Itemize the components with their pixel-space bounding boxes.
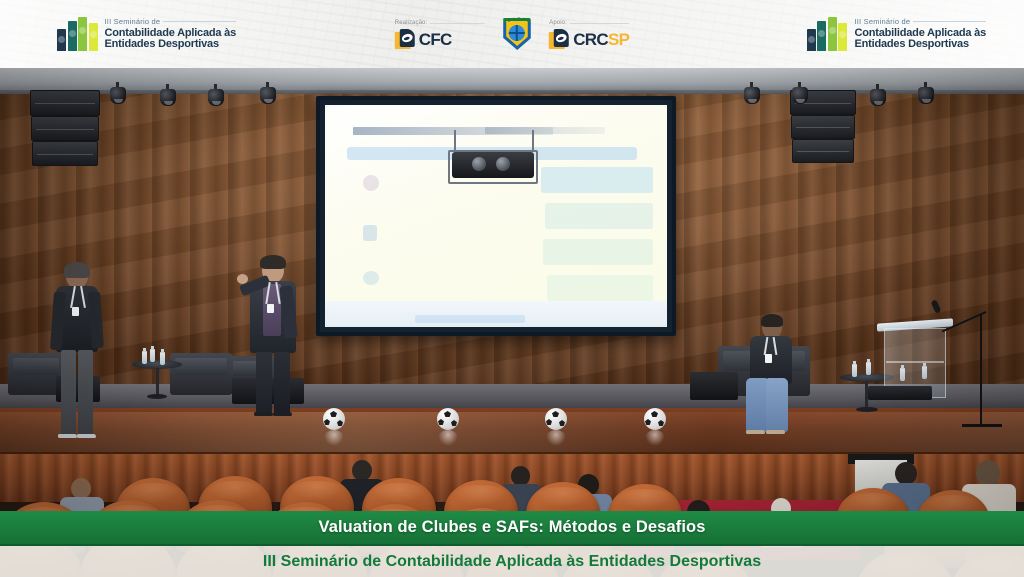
crc-wordmark: CRC xyxy=(573,30,608,49)
event-logo-right-line2: Entidades Desportivas xyxy=(854,39,986,50)
stage-monitor-3 xyxy=(690,372,738,400)
speaker-badge-left xyxy=(72,307,79,316)
slide-callout-4 xyxy=(547,275,653,301)
soccer-ball-3 xyxy=(545,408,567,430)
event-title: III Seminário de Contabilidade Aplicada … xyxy=(263,553,761,571)
speaker-standing-center xyxy=(246,258,308,430)
stage-light-4 xyxy=(258,82,278,106)
event-logo-right: III Seminário de Contabilidade Aplicada … xyxy=(807,17,1024,51)
stage-light-8 xyxy=(916,82,936,106)
gesturing-hand xyxy=(237,274,248,284)
panelist-badge xyxy=(765,354,772,363)
projector-rod-right xyxy=(532,130,534,152)
stage-floor-reflection xyxy=(0,412,1024,452)
side-table-left xyxy=(132,360,182,400)
slide-callout-3 xyxy=(543,239,653,265)
event-logo-mark-icon xyxy=(57,17,98,51)
stage-monitor-4 xyxy=(868,386,932,400)
cbf-shield-icon xyxy=(503,18,531,50)
line-array-speaker-right-2 xyxy=(791,115,855,139)
podium-bottle-2 xyxy=(922,366,927,379)
session-title-bar: Valuation de Clubes e SAFs: Métodos e De… xyxy=(0,511,1024,544)
slide-callout-1 xyxy=(541,167,653,193)
realizacao-label: Realização: xyxy=(395,20,427,26)
water-bottle-2 xyxy=(150,349,155,362)
water-bottle-5 xyxy=(866,362,871,375)
panelist-seated-right xyxy=(748,316,812,434)
soccer-ball-2 xyxy=(437,408,459,430)
speaker-badge-center xyxy=(267,304,274,313)
water-bottle-3 xyxy=(160,352,165,365)
projector-rod-left xyxy=(454,130,456,152)
stage-light-1 xyxy=(108,82,128,106)
stage-light-6 xyxy=(790,82,810,106)
realizacao-block: Realização: CFC xyxy=(395,20,485,50)
water-bottle-4 xyxy=(852,364,857,377)
crcsp-logo: CRCSP xyxy=(549,29,629,50)
stage-light-2 xyxy=(158,84,178,108)
line-array-speaker-left-2 xyxy=(31,116,99,141)
microphone-stand-base xyxy=(962,424,1002,427)
event-header-bar: III Seminário de Contabilidade Aplicada … xyxy=(0,0,1024,68)
stage-light-3 xyxy=(206,84,226,108)
slide-bullet-icon-2 xyxy=(363,225,377,241)
soccer-ball-1 xyxy=(323,408,345,430)
event-logo-left-text: III Seminário de Contabilidade Aplicada … xyxy=(105,18,237,50)
slide-surface xyxy=(325,105,667,327)
event-title-bar: III Seminário de Contabilidade Aplicada … xyxy=(0,544,1024,577)
crc-mark-icon xyxy=(549,29,569,50)
speaker-standing-left xyxy=(52,264,112,454)
soccer-ball-4-reflection xyxy=(645,430,665,446)
cfc-logo: CFC xyxy=(395,29,485,50)
event-logo-left-line1: Contabilidade Aplicada às xyxy=(105,28,237,39)
line-array-speaker-left-3 xyxy=(32,141,98,166)
soccer-ball-3-reflection xyxy=(546,430,566,446)
slide-footer-bar xyxy=(415,315,525,323)
line-array-speaker-right-3 xyxy=(792,139,854,163)
event-logo-left: III Seminário de Contabilidade Aplicada … xyxy=(0,17,236,51)
sponsor-strip: Realização: CFC Apoio: xyxy=(395,18,629,50)
event-logo-right-text: III Seminário de Contabilidade Aplicada … xyxy=(854,18,986,50)
soccer-ball-2-reflection xyxy=(438,430,458,446)
crc-sp-suffix: SP xyxy=(608,30,629,49)
event-logo-left-line2: Entidades Desportivas xyxy=(105,39,237,50)
slide-bullet-icon-3 xyxy=(363,271,379,285)
slide-callout-2 xyxy=(545,203,653,229)
projection-screen xyxy=(316,96,676,336)
event-logo-right-line1: Contabilidade Aplicada às xyxy=(854,28,986,39)
microphone-stand xyxy=(980,314,982,426)
water-bottle-1 xyxy=(142,351,147,364)
livestream-video: Valuation de Clubes e SAFs: Métodos e De… xyxy=(0,68,1024,577)
ceiling-projector xyxy=(452,152,534,178)
event-logo-right-superline: III Seminário de xyxy=(854,18,910,26)
slide-subtitle-placeholder xyxy=(485,127,605,134)
line-array-speaker-left xyxy=(30,90,100,116)
event-logo-mark-right-icon xyxy=(807,17,848,51)
podium-bottle-1 xyxy=(900,368,905,381)
cfc-wordmark: CFC xyxy=(419,30,452,50)
event-logo-left-superline: III Seminário de xyxy=(105,18,161,26)
stage-light-7 xyxy=(868,84,888,108)
broadcast-frame: III Seminário de Contabilidade Aplicada … xyxy=(0,0,1024,577)
apoio-label: Apoio: xyxy=(549,20,567,26)
soccer-ball-4 xyxy=(644,408,666,430)
session-title: Valuation de Clubes e SAFs: Métodos e De… xyxy=(319,518,706,537)
slide-bullet-icon-1 xyxy=(363,175,379,191)
apoio-block: Apoio: CRCSP xyxy=(549,20,629,50)
stage-light-5 xyxy=(742,82,762,106)
cfc-mark-icon xyxy=(395,29,415,50)
soccer-ball-1-reflection xyxy=(324,430,344,446)
slide-footer xyxy=(325,301,667,327)
